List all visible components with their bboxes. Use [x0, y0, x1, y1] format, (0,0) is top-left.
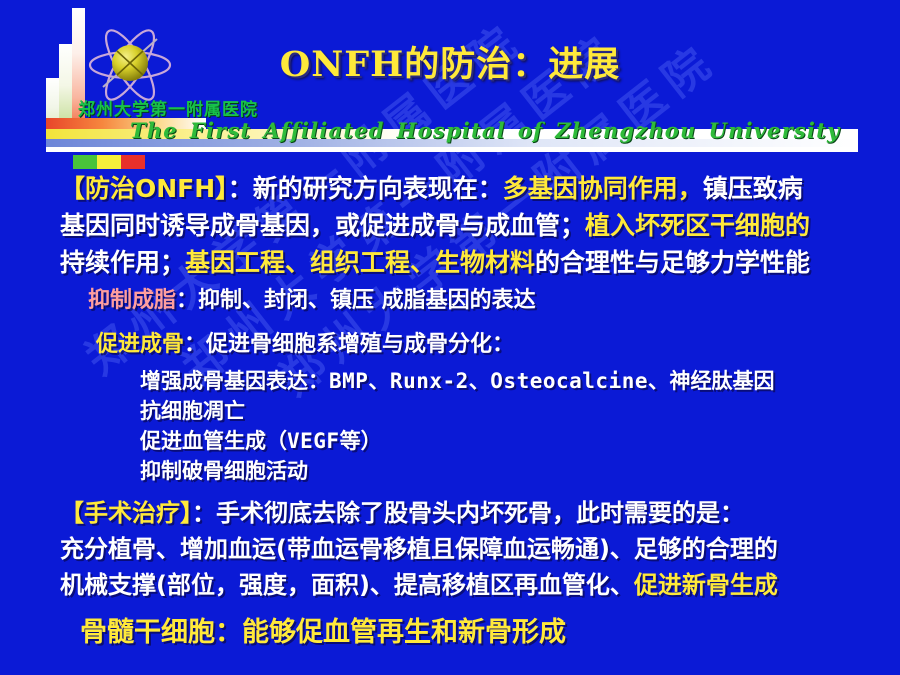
hospital-en-word: Hospital: [397, 118, 506, 143]
sublist-item3-cn: 促进血管生成（: [140, 429, 287, 453]
section1-heading: 【防治ONFH】: [60, 174, 228, 203]
section1-line3-highlight: 基因工程、组织工程、生物材料: [185, 248, 535, 277]
hospital-en-word: of: [518, 118, 543, 143]
section1-line2: 基因同时诱导成骨基因，或促进成骨与成血管；植入坏死区干细胞的: [60, 207, 850, 244]
sublist-item1-tail: 神经肽基因: [670, 369, 775, 393]
decor-color-blocks: [73, 155, 145, 169]
section-surgical-treatment: 【手术治疗】：手术彻底去除了股骨头内坏死骨，此时需要的是： 充分植骨、增加血运(…: [60, 495, 860, 603]
section1-line2-highlight: 植入坏死区干细胞的: [585, 211, 810, 240]
section1-line3-lead: 持续作用；: [60, 248, 185, 277]
list-item: 增强成骨基因表达：BMP、Runx-2、Osteocalcine、神经肽基因: [140, 366, 775, 396]
hospital-en-word: The: [130, 118, 178, 143]
slide-header: ONFH的防治：进展 郑州大学第一附属医院 TheFirstAffiliated…: [0, 0, 900, 160]
promote-text: ：促进骨细胞系增殖与成骨分化：: [184, 332, 514, 357]
section1-line1: 【防治ONFH】：新的研究方向表现在：多基因协同作用，镇压致病: [60, 170, 850, 207]
hospital-name-en: TheFirstAffiliatedHospitalofZhengzhouUni…: [130, 118, 852, 143]
section2-line3-highlight: 促进新骨生成: [634, 571, 778, 599]
section2-line1: 【手术治疗】：手术彻底去除了股骨头内坏死骨，此时需要的是：: [60, 495, 860, 531]
inhibit-text: ：抑制、封闭、镇压 成脂基因的表达: [176, 288, 536, 313]
list-item: 促进血管生成（VEGF等）: [140, 426, 775, 456]
sublist-item1-latin: BMP、Runx-2、Osteocalcine、: [329, 369, 670, 393]
section2-line2: 充分植骨、增加血运(带血运骨移植且保障血运畅通)、足够的合理的: [60, 531, 860, 567]
section1-line3-tail: 的合理性与足够力学性能: [535, 248, 810, 277]
color-block-red: [121, 155, 145, 169]
presentation-slide: 郑州大学第一附属医院 郑州大学第一附属医院 郑州大学第一附属医院: [0, 0, 900, 675]
section1-line1-tail: 镇压致病: [703, 174, 803, 203]
section1-line2-lead: 基因同时诱导成骨基因，或促进成骨与成血管；: [60, 211, 585, 240]
hospital-en-word: First: [190, 118, 251, 143]
inhibit-label: 抑制成脂: [88, 288, 176, 313]
promote-label: 促进成骨: [96, 332, 184, 357]
hospital-en-word: Zhengzhou: [555, 118, 696, 143]
page-title: ONFH的防治：进展: [0, 36, 900, 87]
color-block-green: [73, 155, 97, 169]
osteogenesis-sublist: 增强成骨基因表达：BMP、Runx-2、Osteocalcine、神经肽基因 抗…: [140, 366, 775, 486]
decor-hbar-white: [46, 147, 858, 152]
section2-line1-text: ：手术彻底去除了股骨头内坏死骨，此时需要的是：: [192, 499, 744, 527]
section1-line3: 持续作用；基因工程、组织工程、生物材料的合理性与足够力学性能: [60, 244, 850, 281]
color-block-yellow: [97, 155, 121, 169]
sublist-item3-latin: VEGF: [287, 429, 340, 453]
section2-line3-lead: 机械支撑(部位，强度，面积)、提高移植区再血管化、: [60, 571, 634, 599]
section2-line2-text: 充分植骨、增加血运(带血运骨移植且保障血运畅通)、足够的合理的: [60, 535, 778, 563]
list-item: 抗细胞凋亡: [140, 396, 775, 426]
sublist-item1-cn: 增强成骨基因表达：: [140, 369, 329, 393]
section2-line3: 机械支撑(部位，强度，面积)、提高移植区再血管化、促进新骨生成: [60, 567, 860, 603]
section-bone-marrow-stem-cells: 骨髓干细胞：能够促血管再生和新骨形成: [80, 610, 566, 649]
promote-osteogenesis-line: 促进成骨：促进骨细胞系增殖与成骨分化：: [96, 330, 514, 360]
hospital-en-word: University: [708, 118, 840, 143]
section1-line1-highlight: 多基因协同作用，: [503, 174, 703, 203]
section-prevention-treatment: 【防治ONFH】：新的研究方向表现在：多基因协同作用，镇压致病 基因同时诱导成骨…: [60, 170, 850, 281]
hospital-en-word: Affiliated: [263, 118, 384, 143]
list-item: 抑制破骨细胞活动: [140, 456, 775, 486]
sublist-item3-tail: 等）: [340, 429, 382, 453]
section2-heading: 【手术治疗】: [60, 499, 192, 527]
inhibit-adipogenesis-line: 抑制成脂：抑制、封闭、镇压 成脂基因的表达: [88, 286, 536, 316]
section1-line1-lead: ：新的研究方向表现在：: [228, 174, 503, 203]
hospital-name-cn: 郑州大学第一附属医院: [78, 95, 258, 120]
